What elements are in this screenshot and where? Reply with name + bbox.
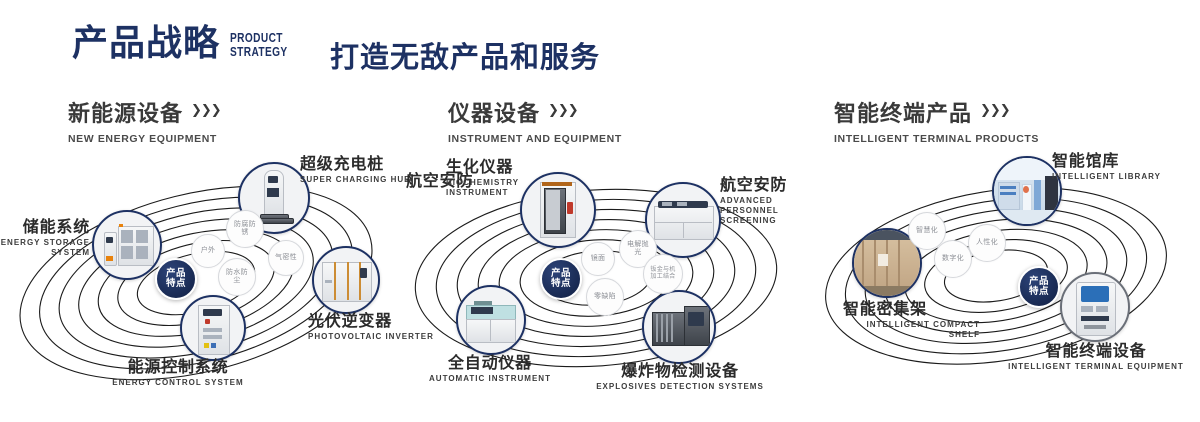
feature-label: 数字化 (942, 255, 964, 263)
headline: 打造无敌产品和服务 (330, 34, 600, 76)
node-label-en: ENERGY CONTROL SYSTEM (88, 378, 268, 388)
library-room-icon (994, 158, 1060, 224)
feature-label: 人性化 (976, 239, 998, 247)
page-title: 产品战略 (72, 26, 220, 62)
node-label-cn: 智能馆库 (1052, 152, 1161, 170)
scanner-gate-icon (522, 174, 594, 246)
core-product-features: 产品 特点 (155, 258, 197, 300)
node-label-en: SUPER CHARGING HUB (300, 175, 411, 185)
node-label-en: INTELLIGENT TERMINAL EQUIPMENT (998, 362, 1194, 372)
feature-label: 防水防尘 (226, 269, 248, 285)
detection-unit-icon (644, 292, 714, 362)
feature-label: 钣金与机加工结合 (649, 267, 677, 280)
panel-intelligent-terminal: 智能馆库 INTELLIGENT LIBRARY 智能密集架 INTELLIGE… (800, 150, 1200, 415)
brand-en-line1: PRODUCT (230, 31, 324, 45)
label-intelligent-library: 智能馆库 INTELLIGENT LIBRARY (1052, 152, 1161, 182)
feature-label: 镜面 (591, 255, 606, 263)
node-terminal-equipment[interactable] (1060, 272, 1130, 342)
feature-label: 防腐防锈 (234, 221, 256, 237)
feature-label: 电解抛光 (627, 241, 649, 257)
page-header: 产品战略 PRODUCT STRATEGY 打造无敌产品和服务 (0, 0, 1200, 88)
label-biochemistry-instrument: 生化仪器 BIOCHEMISTRY INSTRUMENT (446, 158, 531, 198)
label-compact-shelf: 智能密集架 INTELLIGENT COMPACT SHELF (790, 300, 980, 340)
node-label-cn: 爆炸物检测设备 (585, 362, 775, 380)
label-energy-storage: 储能系统 ENERGY STORAGE SYSTEM (0, 218, 90, 258)
node-label-cn: 智能终端设备 (998, 342, 1194, 360)
kiosk-icon (1062, 274, 1128, 340)
chevron-right-icon: ❯❯❯ (191, 102, 221, 118)
node-energy-storage[interactable] (92, 210, 162, 280)
chevron-right-icon: ❯❯❯ (980, 102, 1010, 118)
core-product-features: 产品 特点 (540, 258, 582, 300)
chevron-right-icon: ❯❯❯ (548, 102, 578, 118)
node-control-system[interactable] (180, 295, 246, 361)
feature-bubble: 防水防尘 (218, 258, 256, 296)
brand-en-line2: STRATEGY (230, 45, 324, 59)
energy-storage-icon (94, 212, 160, 278)
node-label-cn: 生化仪器 (446, 158, 531, 176)
feature-bubble: 镜面 (581, 242, 615, 276)
node-label-en: INTELLIGENT COMPACT SHELF (860, 320, 980, 340)
core-line2: 特点 (551, 279, 571, 289)
feature-bubble: 数字化 (934, 240, 972, 278)
page-title-english: PRODUCT STRATEGY (230, 31, 324, 62)
label-explosives-detection: 爆炸物检测设备 EXPLOSIVES DETECTION SYSTEMS (585, 362, 775, 392)
feature-bubble: 人性化 (968, 224, 1006, 262)
node-label-cn: 能源控制系统 (88, 358, 268, 376)
section-title-en: INSTRUMENT AND EQUIPMENT (448, 133, 622, 145)
panel-instrument: 航空安防 生化仪器 BIOCHEMISTRY INSTRUMENT (400, 150, 800, 415)
label-control-system: 能源控制系统 ENERGY CONTROL SYSTEM (88, 358, 268, 388)
node-label-cn: 智能密集架 (790, 300, 980, 318)
section-header-instrument: 仪器设备❯❯❯ INSTRUMENT AND EQUIPMENT (448, 96, 622, 145)
feature-bubble: 钣金与机加工结合 (643, 254, 683, 294)
label-charging-hub: 超级充电桩 SUPER CHARGING HUB (300, 155, 411, 185)
section-header-intelligent-terminal: 智能终端产品❯❯❯ INTELLIGENT TERMINAL PRODUCTS (834, 96, 1039, 145)
auto-analyzer-icon (458, 287, 524, 353)
section-title-cn: 新能源设备 (68, 96, 183, 128)
section-title-en: NEW ENERGY EQUIPMENT (68, 133, 221, 145)
node-label-cn: 超级充电桩 (300, 155, 411, 173)
core-line2: 特点 (1029, 287, 1049, 297)
feature-bubble: 零缺陷 (586, 278, 624, 316)
control-cabinet-icon (182, 297, 244, 359)
feature-bubble: 防腐防锈 (226, 210, 264, 248)
node-label-en: BIOCHEMISTRY INSTRUMENT (446, 178, 531, 198)
section-header-new-energy: 新能源设备❯❯❯ NEW ENERGY EQUIPMENT (68, 96, 221, 145)
product-strategy-infographic: 产品战略 PRODUCT STRATEGY 打造无敌产品和服务 新能源设备❯❯❯… (0, 0, 1200, 422)
screening-machine-icon (647, 184, 719, 256)
feature-bubble: 气密性 (268, 240, 304, 276)
node-explosives-detection[interactable] (642, 290, 716, 364)
core-product-features: 产品 特点 (1018, 266, 1060, 308)
node-label-cn: 全自动仪器 (395, 354, 585, 372)
section-title-en: INTELLIGENT TERMINAL PRODUCTS (834, 133, 1039, 145)
node-label-en: ENERGY STORAGE SYSTEM (0, 238, 90, 258)
feature-label: 气密性 (273, 254, 299, 262)
label-terminal-equipment: 智能终端设备 INTELLIGENT TERMINAL EQUIPMENT (998, 342, 1194, 372)
feature-label: 零缺陷 (592, 293, 618, 301)
section-title-cn: 智能终端产品 (834, 96, 972, 128)
node-label-en: AUTOMATIC INSTRUMENT (395, 374, 585, 384)
node-label-en: INTELLIGENT LIBRARY (1052, 172, 1161, 182)
feature-label: 户外 (201, 247, 216, 255)
feature-label: 智慧化 (916, 227, 938, 235)
panel-new-energy: 储能系统 ENERGY STORAGE SYSTEM 超级充电桩 SUPER C… (0, 150, 400, 415)
section-title-cn: 仪器设备 (448, 96, 540, 128)
feature-bubble: 户外 (191, 234, 225, 268)
core-line2: 特点 (166, 279, 186, 289)
node-automatic-instrument[interactable] (456, 285, 526, 355)
node-pv-inverter[interactable] (312, 246, 380, 314)
node-label-cn: 储能系统 (0, 218, 90, 236)
node-label-en: EXPLOSIVES DETECTION SYSTEMS (585, 382, 775, 392)
label-automatic-instrument: 全自动仪器 AUTOMATIC INSTRUMENT (395, 354, 585, 384)
node-biochemistry-instrument[interactable] (520, 172, 596, 248)
brand-lockup: 产品战略 PRODUCT STRATEGY (72, 26, 350, 62)
pv-inverter-icon (314, 248, 378, 312)
